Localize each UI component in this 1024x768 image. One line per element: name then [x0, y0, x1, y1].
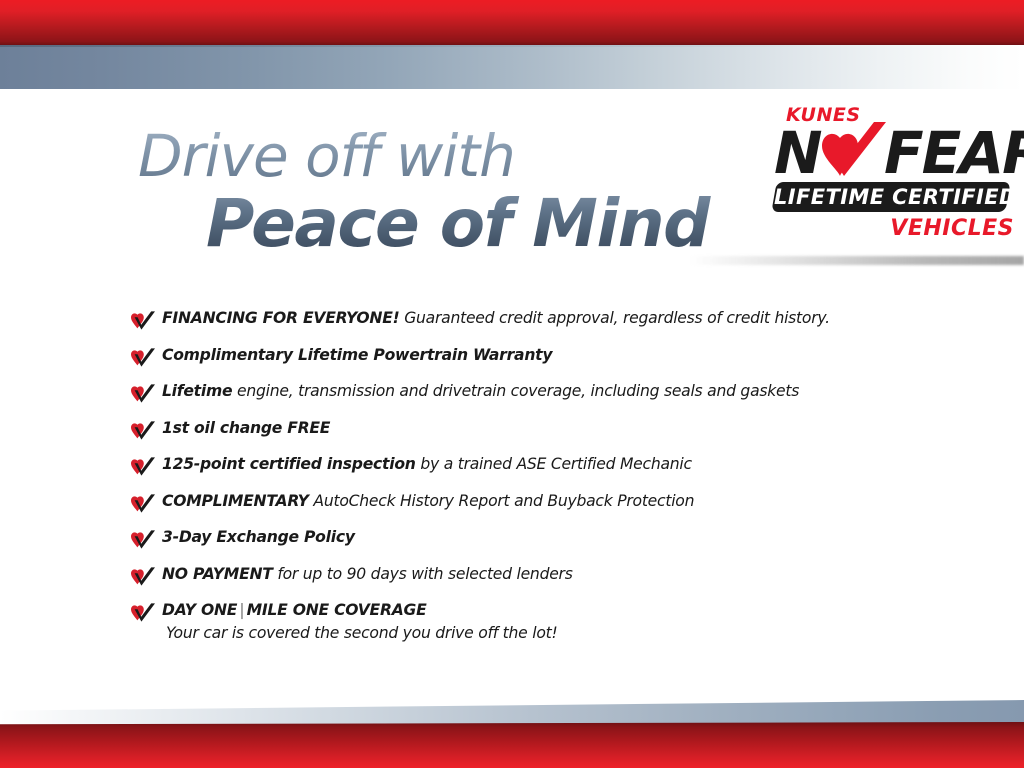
top-slate-bar — [0, 45, 1024, 89]
logo-nofear-group: N FEAR — [774, 122, 1018, 182]
list-item-rest: for up to 90 days with selected lenders — [273, 565, 573, 583]
bottom-red-bar — [0, 722, 1024, 768]
list-item-lead: Lifetime — [162, 382, 232, 400]
list-item-text: DAY ONE|MILE ONE COVERAGE — [162, 601, 426, 619]
logo-certified-text: LIFETIME CERTIFIED — [774, 182, 1008, 212]
kunes-no-fear-logo: KUNES N FEAR LIFETIME CERTIFIED VEHICLES — [768, 104, 1018, 252]
list-item-text: 1st oil change FREE — [162, 418, 330, 439]
logo-divider — [690, 256, 1024, 265]
list-item-rest: AutoCheck History Report and Buyback Pro… — [309, 492, 695, 510]
check-heart-icon — [130, 347, 156, 369]
list-item-lead-2: MILE ONE COVERAGE — [247, 601, 427, 619]
logo-word-fear: FEAR — [884, 124, 1024, 182]
list-item-text: NO PAYMENT for up to 90 days with select… — [162, 564, 573, 585]
list-item-subline: Your car is covered the second you drive… — [166, 622, 557, 644]
list-item: NO PAYMENT for up to 90 days with select… — [130, 564, 950, 588]
top-red-bar — [0, 0, 1024, 45]
list-item: 125-point certified inspection by a trai… — [130, 454, 950, 478]
list-item-block: DAY ONE|MILE ONE COVERAGE Your car is co… — [162, 600, 557, 644]
check-heart-icon — [130, 602, 156, 624]
list-item-text: COMPLIMENTARY AutoCheck History Report a… — [162, 491, 694, 512]
list-item-text: 3-Day Exchange Policy — [162, 527, 355, 548]
list-item-lead: DAY ONE — [162, 601, 237, 619]
list-item: 3-Day Exchange Policy — [130, 527, 950, 551]
list-item-rest: engine, transmission and drivetrain cove… — [232, 382, 799, 400]
list-item-text: FINANCING FOR EVERYONE! Guaranteed credi… — [162, 308, 830, 329]
list-item-text: Lifetime engine, transmission and drivet… — [162, 381, 799, 402]
check-heart-icon — [130, 529, 156, 551]
list-item: COMPLIMENTARY AutoCheck History Report a… — [130, 491, 950, 515]
headline-line-1: Drive off with — [138, 126, 738, 186]
list-item-rest: by a trained ASE Certified Mechanic — [416, 455, 692, 473]
list-item-lead: 125-point certified inspection — [162, 455, 416, 473]
check-heart-icon — [130, 383, 156, 405]
list-item-separator: | — [237, 601, 246, 619]
list-item-lead: 1st oil change FREE — [162, 419, 330, 437]
list-item-lead: NO PAYMENT — [162, 565, 273, 583]
list-item-lead: 3-Day Exchange Policy — [162, 528, 355, 546]
list-item: 1st oil change FREE — [130, 418, 950, 442]
promo-banner: Drive off with Peace of Mind KUNES N FEA… — [0, 0, 1024, 768]
list-item-lead: FINANCING FOR EVERYONE! — [162, 309, 400, 327]
list-item: DAY ONE|MILE ONE COVERAGE Your car is co… — [130, 600, 950, 644]
headline: Drive off with Peace of Mind — [138, 126, 738, 260]
check-heart-icon — [130, 456, 156, 478]
list-item-lead: Complimentary Lifetime Powertrain Warran… — [162, 346, 552, 364]
list-item-text: 125-point certified inspection by a trai… — [162, 454, 692, 475]
check-heart-icon — [130, 420, 156, 442]
list-item-text: Complimentary Lifetime Powertrain Warran… — [162, 345, 552, 366]
benefits-list: FINANCING FOR EVERYONE! Guaranteed credi… — [130, 308, 950, 657]
logo-certified-band: LIFETIME CERTIFIED — [771, 182, 1010, 212]
check-heart-icon — [130, 566, 156, 588]
check-heart-icon — [130, 493, 156, 515]
headline-line-2: Peace of Mind — [206, 188, 738, 260]
list-item: Lifetime engine, transmission and drivet… — [130, 381, 950, 405]
check-heart-icon — [130, 310, 156, 332]
list-item: Complimentary Lifetime Powertrain Warran… — [130, 345, 950, 369]
logo-vehicles-text: VEHICLES — [890, 216, 1014, 241]
list-item-rest: Guaranteed credit approval, regardless o… — [400, 309, 830, 327]
list-item: FINANCING FOR EVERYONE! Guaranteed credi… — [130, 308, 950, 332]
list-item-lead: COMPLIMENTARY — [162, 492, 309, 510]
